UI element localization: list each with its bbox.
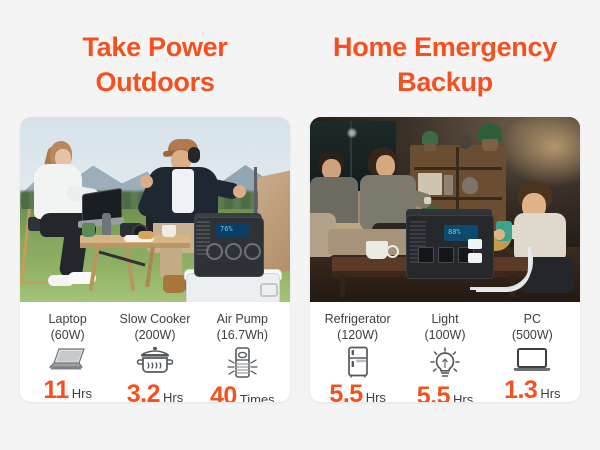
stat-watt: (60W) xyxy=(51,328,85,344)
man-headphones xyxy=(188,147,200,163)
stat-unit: Hrs xyxy=(540,386,560,401)
stat-value-group: 5.5 Hrs xyxy=(417,382,473,402)
stat-watt: (200W) xyxy=(135,328,176,344)
refrigerator-icon xyxy=(345,346,371,378)
stat-unit: Hrs xyxy=(366,390,386,402)
stats-row-outdoors: Laptop (60W) 11 Hrs xyxy=(20,302,290,402)
water-bottle xyxy=(102,213,111,237)
coffee-table-leg-left xyxy=(340,275,345,297)
card-outdoors: 76% Laptop (60W) xyxy=(20,117,290,402)
stats-row-home-backup: Refrigerator (120W) xyxy=(310,302,580,402)
stat-refrigerator: Refrigerator (120W) xyxy=(314,312,401,390)
man-shirt xyxy=(172,169,194,213)
stat-pc: PC (500W) 1.3 Hrs xyxy=(489,312,576,390)
shelf-plant-pot-small xyxy=(424,143,436,151)
stat-value-group: 3.2 Hrs xyxy=(127,380,183,402)
stat-value-group: 11 Hrs xyxy=(43,376,92,402)
lamp-glow xyxy=(500,117,580,187)
bread-snack xyxy=(138,231,154,239)
air-pump-icon xyxy=(225,346,259,380)
man-boot-front xyxy=(163,275,185,293)
woman-watch xyxy=(424,197,431,204)
charging-cable-2 xyxy=(476,247,531,292)
stat-unit: Hrs xyxy=(453,392,473,402)
stat-label: Light xyxy=(431,312,458,328)
power-station-outlet-1 xyxy=(418,247,434,263)
power-station-outlet-2 xyxy=(225,243,242,260)
stat-watt: (120W) xyxy=(337,328,378,344)
promo-page: Take Power Outdoors xyxy=(0,0,600,450)
lightbulb-icon xyxy=(426,346,464,380)
headline-home-backup: Home Emergency Backup xyxy=(310,30,580,104)
stat-unit: Hrs xyxy=(163,390,183,402)
headline-line-2: Backup xyxy=(310,65,580,100)
man-hand-right xyxy=(233,185,246,198)
coffee-mug xyxy=(366,241,388,259)
stat-watt: (100W) xyxy=(425,328,466,344)
power-station-outlet-3 xyxy=(244,243,261,260)
green-cup xyxy=(82,223,95,237)
stat-label: Refrigerator xyxy=(325,312,391,328)
stat-laptop: Laptop (60W) 11 Hrs xyxy=(24,312,111,390)
card-home-backup: 88% Refrigerator (120W) xyxy=(310,117,580,402)
coffee-mug-handle xyxy=(386,245,399,258)
stat-unit: Hrs xyxy=(72,386,92,401)
shelf-vase xyxy=(462,177,478,194)
stat-unit: Times xyxy=(240,392,275,402)
shelf-book-single xyxy=(444,175,453,195)
stat-label: Laptop xyxy=(49,312,87,328)
stat-value-group: 1.3 Hrs xyxy=(504,376,560,402)
laptop-icon xyxy=(48,346,88,374)
stat-number: 3.2 xyxy=(127,380,160,402)
photo-outdoor-camping: 76% xyxy=(20,117,290,302)
stat-number: 11 xyxy=(43,376,68,402)
stat-air-pump: Air Pump (16.7Wh) xyxy=(199,312,286,390)
stat-light: Light (100W) xyxy=(401,312,488,390)
slow-cooker-icon xyxy=(136,346,174,378)
panel-home-backup: Home Emergency Backup xyxy=(300,0,600,450)
woman-face xyxy=(376,155,395,177)
moon xyxy=(348,129,356,137)
man-hand-left xyxy=(140,175,153,188)
stat-label: PC xyxy=(524,312,541,328)
shelf-decor-sphere xyxy=(458,135,472,149)
headline-line-1: Home Emergency xyxy=(310,30,580,65)
stat-number: 40 xyxy=(210,382,237,402)
stat-watt: (500W) xyxy=(512,328,553,344)
power-station-outlet-1 xyxy=(206,243,223,260)
power-station-outlet-2 xyxy=(438,247,454,263)
stat-watt: (16.7Wh) xyxy=(217,328,268,344)
stat-label: Air Pump xyxy=(217,312,268,328)
boy-hand xyxy=(494,229,505,240)
stat-slow-cooker: Slow Cooker (200W) xyxy=(111,312,198,390)
shelf-plant-pot-top xyxy=(482,139,498,151)
stat-number: 5.5 xyxy=(417,382,450,402)
stat-number: 5.5 xyxy=(329,380,362,402)
stat-value-group: 5.5 Hrs xyxy=(329,380,385,402)
stat-label: Slow Cooker xyxy=(120,312,191,328)
headline-outdoors: Take Power Outdoors xyxy=(20,30,290,104)
white-mug xyxy=(162,225,176,237)
panel-outdoors: Take Power Outdoors xyxy=(0,0,300,450)
cable-plug-1 xyxy=(468,239,482,249)
stat-number: 1.3 xyxy=(504,376,537,402)
power-station-display-value: 76% xyxy=(220,225,233,233)
power-station-display-value: 88% xyxy=(448,228,461,236)
stat-value-group: 40 Times xyxy=(210,382,275,402)
pc-laptop-icon xyxy=(511,346,553,374)
cable-plug-2 xyxy=(468,253,482,263)
cooler-handle xyxy=(260,283,278,297)
headline-line-2: Outdoors xyxy=(20,65,290,100)
photo-indoor-living-room: 88% xyxy=(310,117,580,302)
headline-line-1: Take Power xyxy=(20,30,290,65)
